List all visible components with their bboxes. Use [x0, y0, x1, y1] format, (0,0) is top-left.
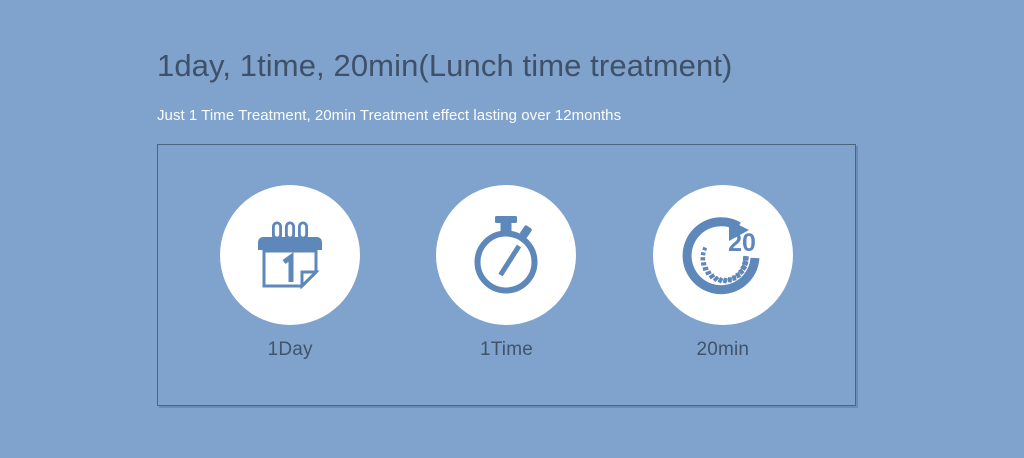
- icon-circle-1day: [220, 185, 360, 325]
- timer-arrow-20-icon: 20: [679, 211, 767, 299]
- feature-item-1time[interactable]: 1Time: [406, 185, 606, 362]
- timer-icon-value: 20: [728, 229, 756, 257]
- feature-label-20min: 20min: [696, 339, 749, 362]
- page-title: 1day, 1time, 20min(Lunch time treatment): [157, 47, 732, 84]
- feature-label-1day: 1Day: [268, 339, 313, 362]
- page-subtitle: Just 1 Time Treatment, 20min Treatment e…: [157, 107, 621, 125]
- feature-item-20min[interactable]: 20 20min: [623, 185, 823, 362]
- icon-circle-20min: 20: [653, 185, 793, 325]
- icon-circle-1time: [436, 185, 576, 325]
- feature-panel: 1Day 1T: [157, 144, 856, 406]
- feature-row: 1Day 1T: [158, 145, 855, 405]
- calendar-one-icon: [251, 216, 329, 294]
- feature-item-1day[interactable]: 1Day: [190, 185, 390, 362]
- feature-label-1time: 1Time: [480, 339, 533, 362]
- stopwatch-icon: [464, 213, 548, 297]
